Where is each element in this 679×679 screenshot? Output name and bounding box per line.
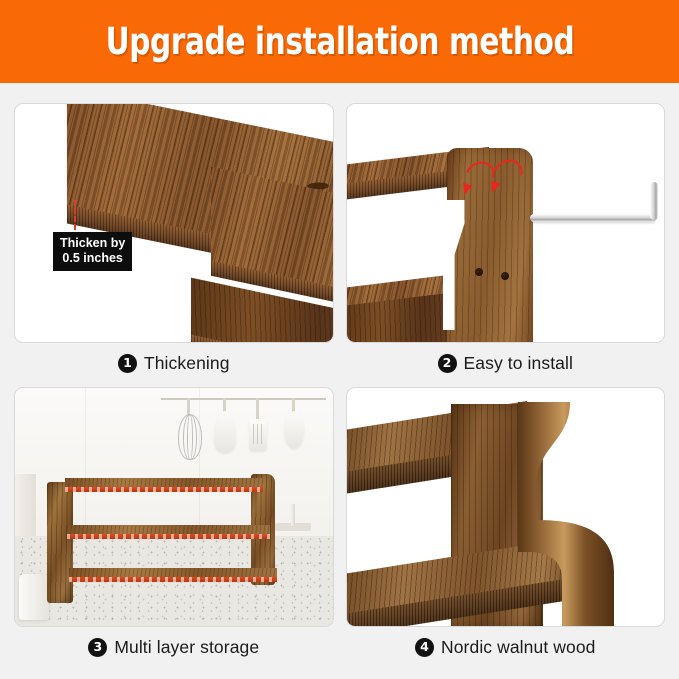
- turner-utensil: [247, 398, 269, 460]
- feature-caption-text-3: Multi layer storage: [114, 637, 259, 658]
- feature-caption-3: 3 Multi layer storage: [14, 627, 334, 667]
- feature-image-thickening: Thicken by 0.5 inches: [14, 103, 334, 343]
- spatula-utensil: [212, 398, 238, 460]
- feature-grid: Thicken by 0.5 inches 1 Thickening: [0, 83, 679, 679]
- spatula-handle: [223, 398, 226, 412]
- step-number-badge-1: 1: [118, 354, 137, 373]
- feature-cell-3: 3 Multi layer storage: [14, 387, 334, 667]
- rack-front-dash: [67, 534, 270, 539]
- kitchen-bin: [19, 574, 49, 620]
- rack-side-left: [47, 482, 73, 603]
- thickness-callout-line2: 0.5 inches: [60, 251, 125, 266]
- whisk-utensil: [174, 398, 204, 460]
- rack-front-dash: [69, 577, 277, 582]
- shelf-side-panel: [447, 148, 533, 343]
- turner-handle: [256, 398, 259, 420]
- spoon-utensil: [282, 398, 306, 458]
- feature-caption-2: 2 Easy to install: [346, 343, 666, 383]
- feature-image-easy-install: [346, 103, 666, 343]
- whisk-wire: [187, 414, 193, 460]
- spoon-handle: [292, 398, 295, 412]
- turner-slot: [261, 424, 263, 444]
- feature-image-multi-layer: [14, 387, 334, 627]
- turner-slot: [257, 424, 259, 444]
- hex-key-shaft: [530, 214, 656, 222]
- feature-cell-4: 4 Nordic walnut wood: [346, 387, 666, 667]
- rack-shelf-bottom-front: [69, 577, 277, 582]
- screw-hole: [501, 272, 509, 280]
- feature-image-walnut-wood: [346, 387, 666, 627]
- spice-rack: [47, 478, 295, 607]
- rack-shelf-middle-front: [67, 534, 270, 539]
- infographic-page: Upgrade installation method Thicken by 0…: [0, 0, 679, 679]
- feature-cell-2: 2 Easy to install: [346, 103, 666, 383]
- step-number-badge-2: 2: [438, 354, 457, 373]
- header-banner: Upgrade installation method: [0, 0, 679, 83]
- thickness-callout-line1: Thicken by: [60, 236, 125, 251]
- feature-caption-4: 4 Nordic walnut wood: [346, 627, 666, 667]
- rack-shelf-top-front: [65, 487, 263, 492]
- hex-key-tool: [530, 182, 658, 224]
- step-number-badge-3: 3: [88, 638, 107, 657]
- feature-caption-text-1: Thickening: [144, 353, 230, 374]
- closeup-side-curve: [518, 402, 626, 627]
- thickness-callout-badge: Thicken by 0.5 inches: [53, 232, 132, 271]
- feature-caption-text-4: Nordic walnut wood: [441, 637, 596, 658]
- turner-slot: [253, 424, 255, 444]
- thickness-measure-line: [74, 200, 76, 230]
- spatula-blade: [214, 411, 236, 453]
- spoon-bowl: [284, 411, 304, 449]
- curve-profile-path: [518, 402, 614, 627]
- hex-key-arm: [650, 182, 658, 220]
- feature-caption-1: 1 Thickening: [14, 343, 334, 383]
- feature-cell-1: Thicken by 0.5 inches 1 Thickening: [14, 103, 334, 383]
- screw-hole: [475, 268, 483, 276]
- step-number-badge-4: 4: [415, 638, 434, 657]
- feature-caption-text-2: Easy to install: [464, 353, 573, 374]
- rack-front-dash: [65, 487, 263, 492]
- page-title: Upgrade installation method: [105, 23, 574, 60]
